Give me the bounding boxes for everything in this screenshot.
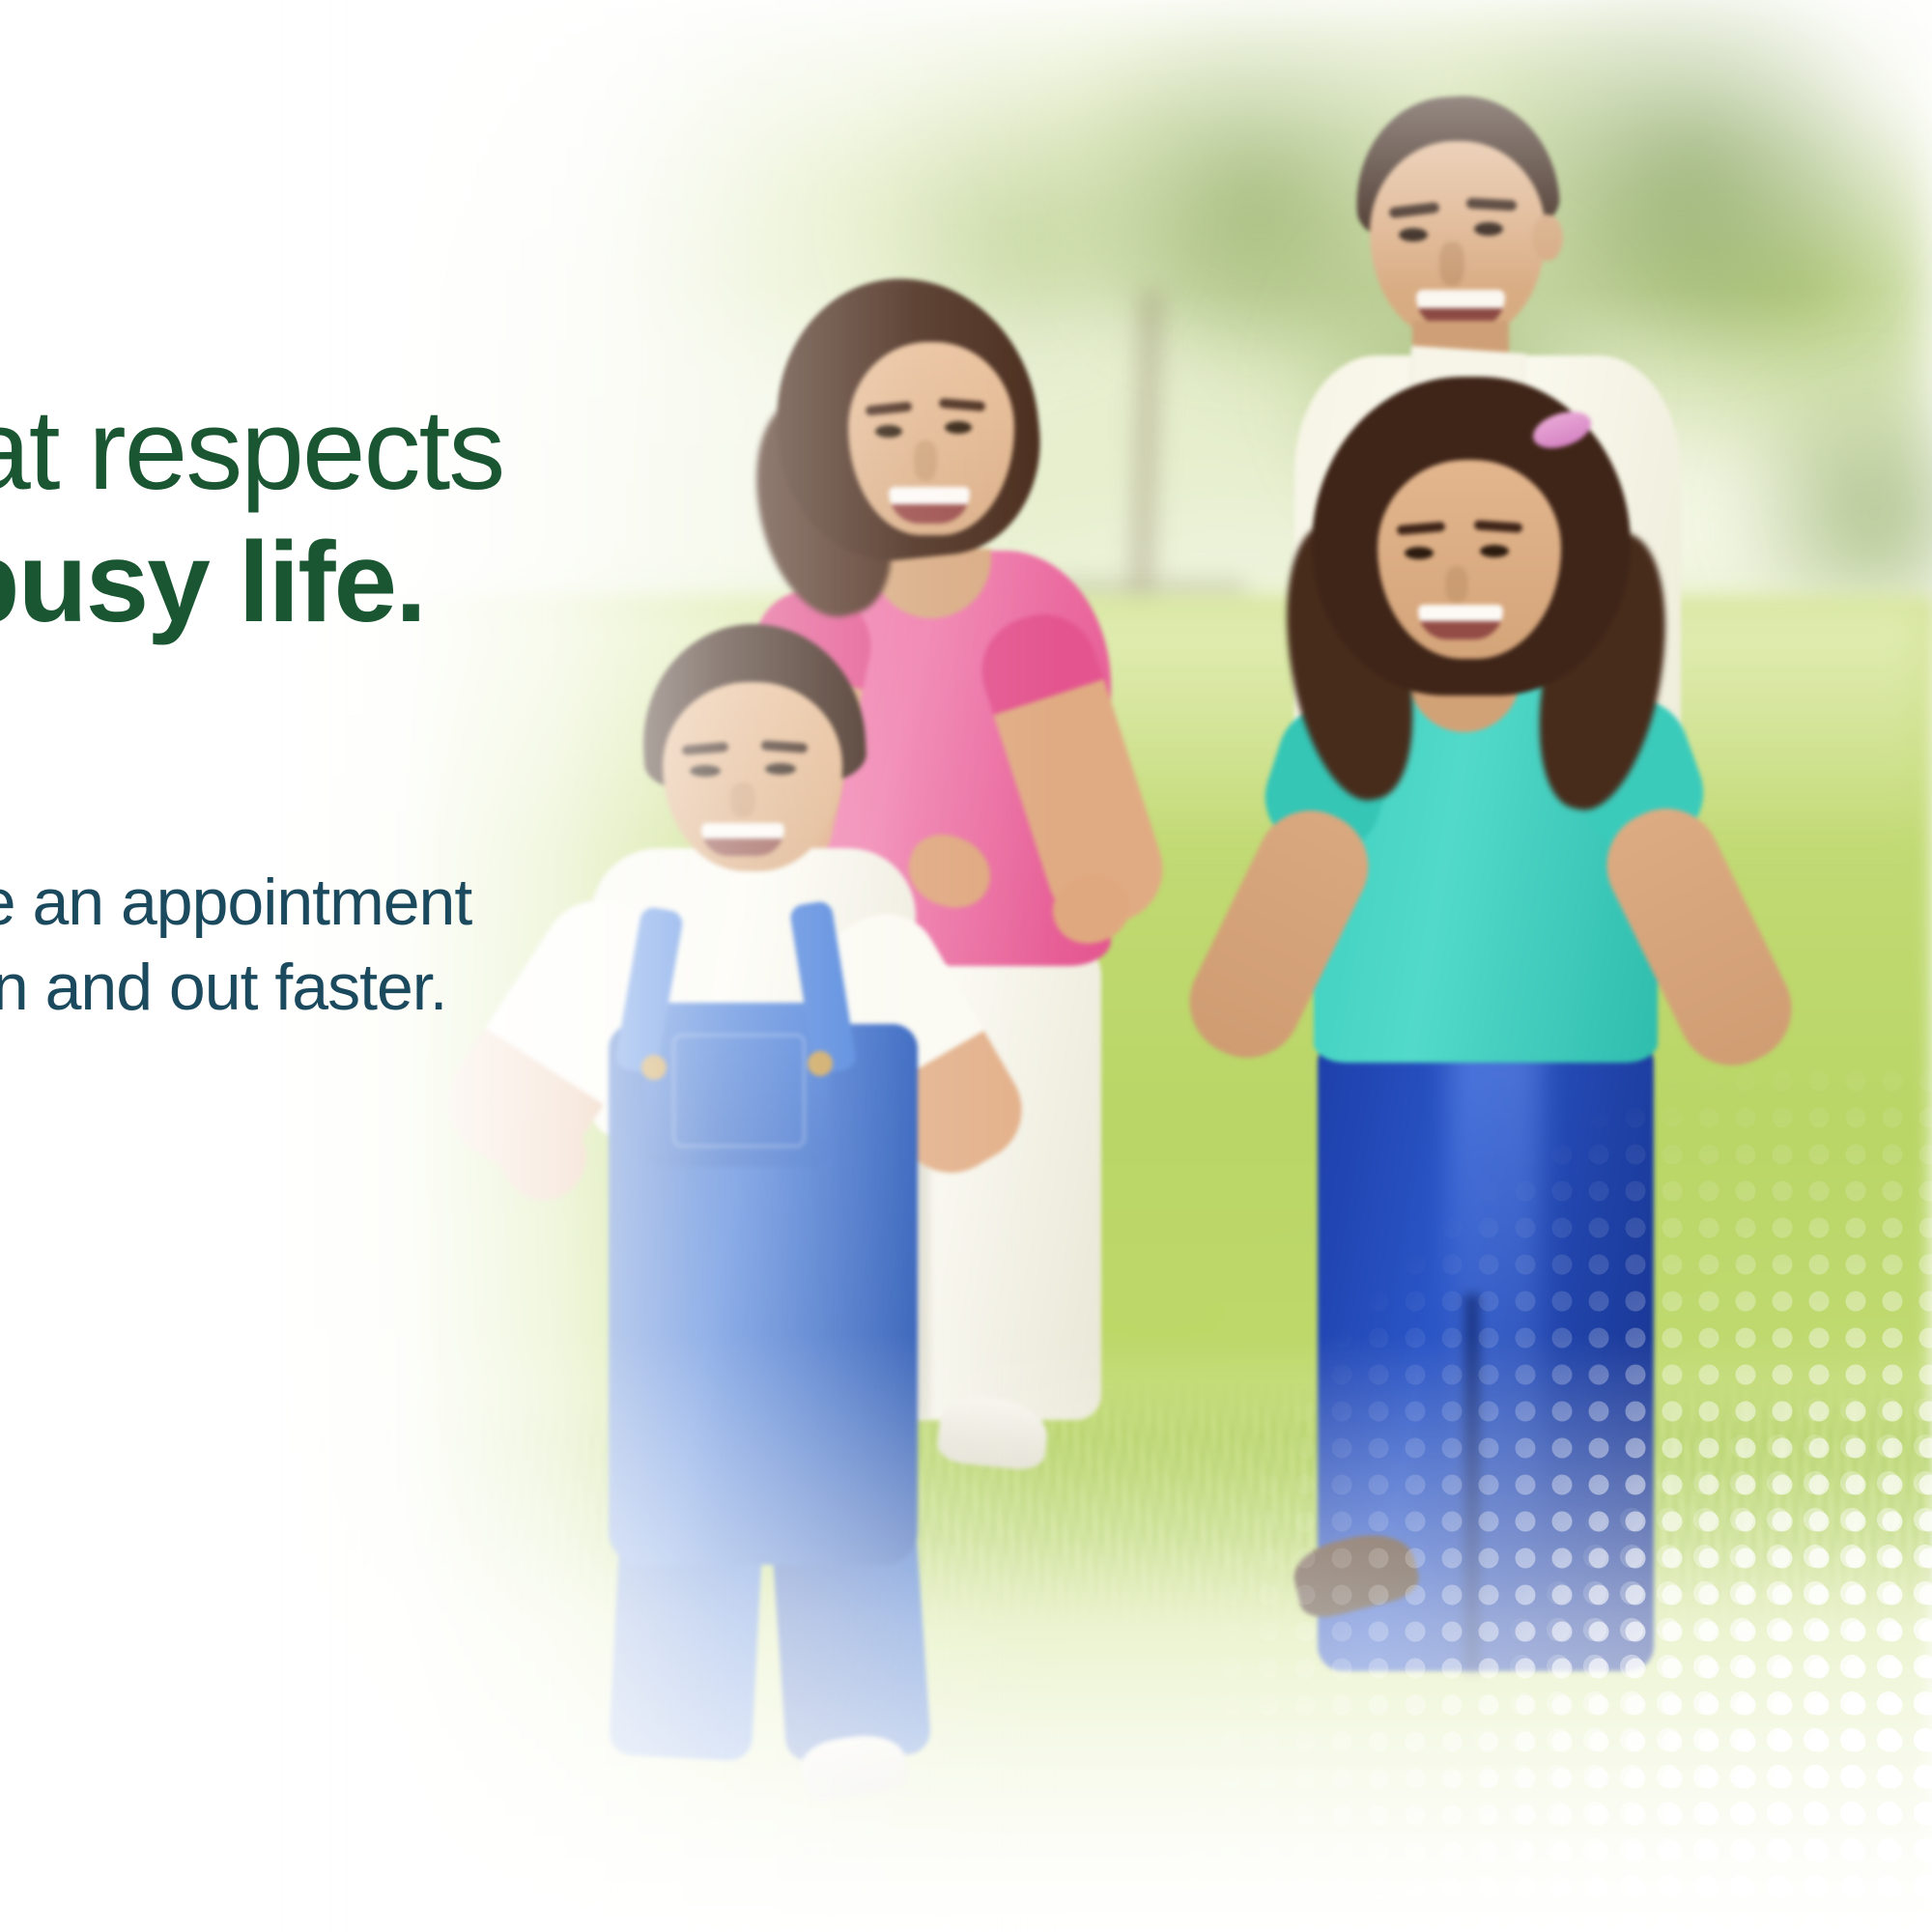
girl-mouth — [1418, 605, 1503, 639]
hero-headline: job that respects your busy life. — [0, 384, 976, 649]
father-teeth — [1416, 290, 1505, 308]
headline-line-1-rest: that respects — [0, 386, 503, 514]
headline-line-1: job that respects — [0, 384, 976, 517]
headline-line-2-emphasis: your busy life. — [0, 519, 425, 646]
subcopy-line-1: Schedule an appointment — [0, 860, 947, 945]
girl-nose — [1445, 566, 1468, 603]
girl-teeth — [1418, 605, 1503, 621]
girl-eye — [1405, 547, 1434, 559]
hero-subcopy: Schedule an appointment and get in and o… — [0, 860, 947, 1031]
hero-copy-block: job that respects your busy life. Schedu… — [0, 0, 966, 1932]
girl-eye — [1480, 545, 1509, 557]
headline-line-2: your busy life. — [0, 517, 976, 649]
hero-banner: job that respects your busy life. Schedu… — [0, 0, 1932, 1932]
subcopy-line-2: and get in and out faster. — [0, 945, 947, 1030]
